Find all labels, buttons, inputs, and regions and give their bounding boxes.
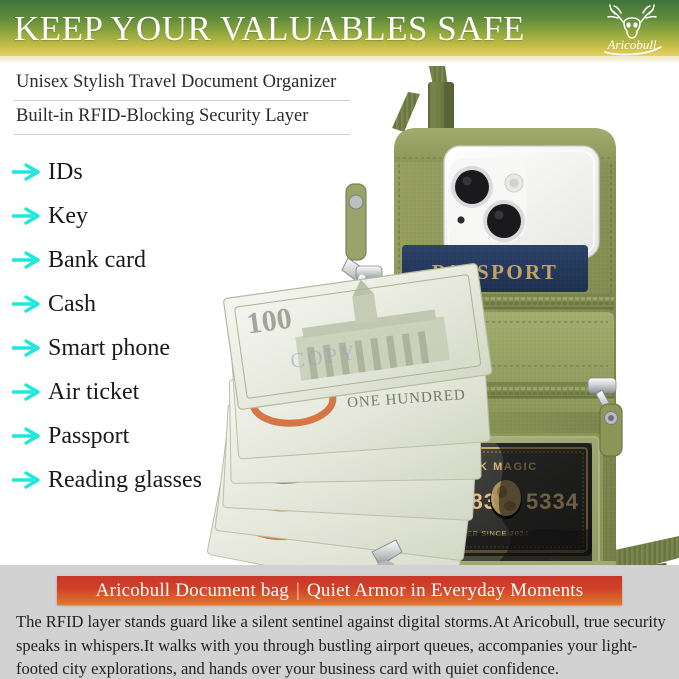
arrow-right-icon: [12, 427, 42, 445]
list-item-label: Passport: [48, 424, 129, 448]
arrow-right-icon: [12, 383, 42, 401]
list-item-label: Cash: [48, 292, 96, 316]
arrow-right-icon: [12, 163, 42, 181]
ribbon-right-text: Quiet Armor in Everyday Moments: [307, 580, 583, 602]
arrow-right-icon: [12, 295, 42, 313]
product-photo: PASSPORT: [196, 66, 679, 622]
list-item-label: Key: [48, 204, 88, 228]
ribbon-left-text: Aricobull Document bag: [96, 580, 289, 602]
arrow-right-icon: [12, 339, 42, 357]
side-tab-right: [600, 404, 622, 456]
list-item-label: Smart phone: [48, 336, 170, 360]
arrow-right-icon: [12, 471, 42, 489]
list-item-label: IDs: [48, 160, 83, 184]
list-item-label: Air ticket: [48, 380, 139, 404]
aricobull-logo: Aricobull: [593, 2, 671, 56]
white-smartphone: [444, 146, 599, 258]
page-title: KEEP YOUR VALUABLES SAFE: [14, 11, 525, 46]
arrow-right-icon: [12, 207, 42, 225]
arrow-right-icon: [12, 251, 42, 269]
header-banner: KEEP YOUR VALUABLES SAFE Aricobull: [0, 0, 679, 56]
hundred-dollar-bills: DOLLARS DOLLARS DOLLARS: [207, 263, 492, 602]
tagline-ribbon: Aricobull Document bag | Quiet Armor in …: [57, 576, 622, 605]
main-content: Unisex Stylish Travel Document Organizer…: [0, 62, 679, 565]
list-item-label: Bank card: [48, 248, 146, 272]
svg-text:100: 100: [245, 302, 294, 341]
list-item-label: Reading glasses: [48, 468, 202, 492]
product-infographic: KEEP YOUR VALUABLES SAFE Aricobull Unis: [0, 0, 679, 679]
ribbon-separator: |: [289, 580, 307, 602]
logo-wordmark: Aricobull: [606, 37, 656, 52]
description-paragraph: The RFID layer stands guard like a silen…: [16, 610, 666, 679]
